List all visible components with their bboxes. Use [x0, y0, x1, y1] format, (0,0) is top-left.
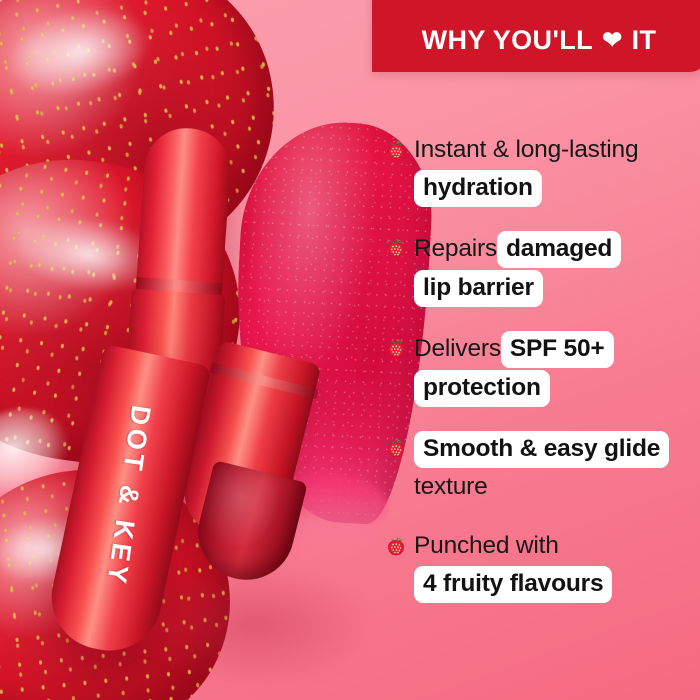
banner-title: WHY YOU'LL ❤ IT [422, 25, 657, 56]
strawberry-icon [386, 437, 406, 458]
feature-line: hydration [414, 169, 696, 208]
feature-line: Punched with [414, 528, 696, 565]
feature-line: Repairs damaged [414, 230, 696, 269]
feature-highlight: hydration [414, 170, 542, 207]
feature-line: Instant & long-lasting [414, 132, 696, 169]
feature-line: protection [414, 369, 696, 408]
feature-highlight: Smooth & easy glide [414, 431, 669, 468]
strawberry-icon [386, 139, 406, 160]
feature-text: Repairs damagedlip barrier [414, 230, 696, 308]
heart-icon: ❤ [602, 29, 623, 53]
brand-logo-text: DOT & KEY [100, 403, 156, 589]
feature-line: lip barrier [414, 269, 696, 308]
product-shadow [130, 560, 380, 690]
feature-line: Smooth & easy glide [414, 430, 696, 469]
feature-item: Instant & long-lastinghydration [386, 132, 696, 208]
feature-line: 4 fruity flavours [414, 565, 696, 604]
feature-plain-text: Repairs [414, 231, 497, 268]
banner-title-before: WHY YOU'LL [422, 25, 593, 56]
feature-plain-text: texture [414, 469, 488, 506]
feature-plain-text: Instant & long-lasting [414, 132, 638, 169]
why-you-will-love-it-banner: WHY YOU'LL ❤ IT [372, 0, 700, 72]
feature-item: Repairs damagedlip barrier [386, 230, 696, 308]
feature-highlight: protection [414, 370, 550, 407]
strawberry-icon [386, 337, 406, 358]
feature-list: Instant & long-lastinghydrationRepairs d… [386, 132, 696, 604]
feature-highlight: SPF 50+ [501, 331, 614, 368]
feature-item: Smooth & easy glidetexture [386, 430, 696, 506]
banner-title-after: IT [632, 25, 657, 56]
feature-item: Punched with4 fruity flavours [386, 528, 696, 604]
tube-ring [209, 363, 318, 399]
feature-text: Punched with4 fruity flavours [414, 528, 696, 604]
feature-item: Delivers SPF 50+protection [386, 330, 696, 408]
feature-text: Smooth & easy glidetexture [414, 430, 696, 506]
strawberry-icon [386, 535, 406, 556]
feature-highlight: lip barrier [414, 270, 543, 307]
feature-line: Delivers SPF 50+ [414, 330, 696, 369]
feature-text: Instant & long-lastinghydration [414, 132, 696, 208]
feature-plain-text: Delivers [414, 331, 501, 368]
feature-highlight: damaged [497, 231, 621, 268]
promo-image: DOT & KEY WHY YOU'LL ❤ IT Instant & long… [0, 0, 700, 700]
feature-highlight: 4 fruity flavours [414, 566, 612, 603]
feature-text: Delivers SPF 50+protection [414, 330, 696, 408]
feature-line: texture [414, 469, 696, 506]
strawberry-icon [386, 237, 406, 258]
feature-plain-text: Punched with [414, 528, 559, 565]
